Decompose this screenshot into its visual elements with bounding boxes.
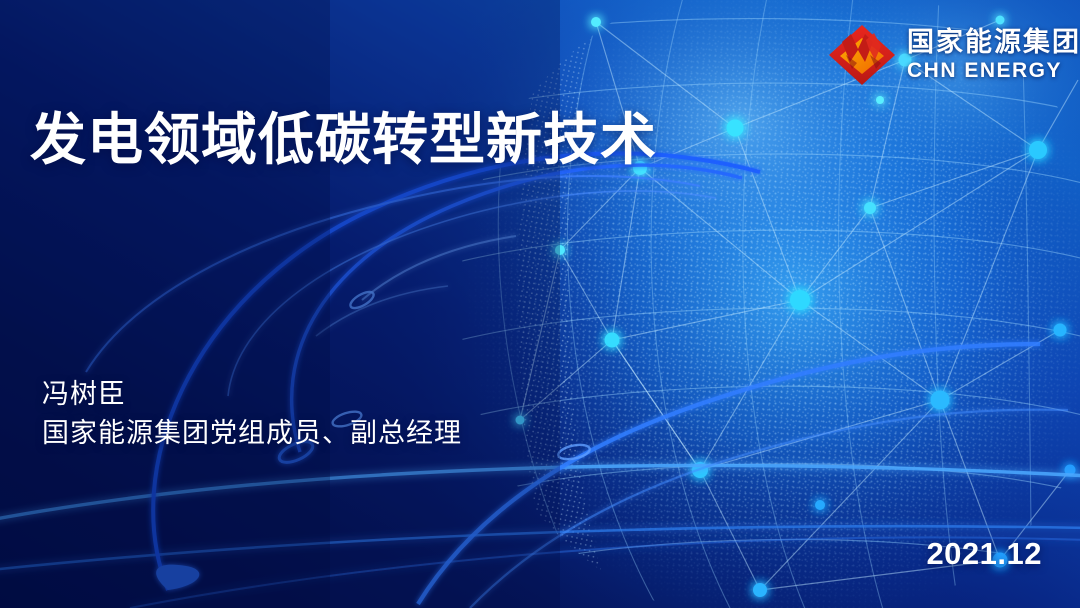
- logo-wordmark: 国家能源集团 CHN ENERGY: [907, 29, 1080, 81]
- presenter-role: 国家能源集团党组成员、副总经理: [42, 414, 462, 453]
- slide-date: 2021.12: [926, 536, 1042, 572]
- logo-chinese-name: 国家能源集团: [907, 29, 1080, 56]
- slide-title: 发电领域低碳转型新技术: [30, 112, 657, 168]
- presenter-block: 冯树臣 国家能源集团党组成员、副总经理: [42, 375, 462, 453]
- chn-energy-logo: 国家能源集团 CHN ENERGY: [826, 22, 1080, 88]
- presenter-name: 冯树臣: [42, 375, 462, 414]
- logo-english-name: CHN ENERGY: [907, 60, 1080, 81]
- chn-energy-emblem-icon: [826, 22, 898, 88]
- presentation-slide: 发电领域低碳转型新技术 冯树臣 国家能源集团党组成员、副总经理 2021.12: [0, 0, 1080, 608]
- slide-background: [0, 0, 1080, 608]
